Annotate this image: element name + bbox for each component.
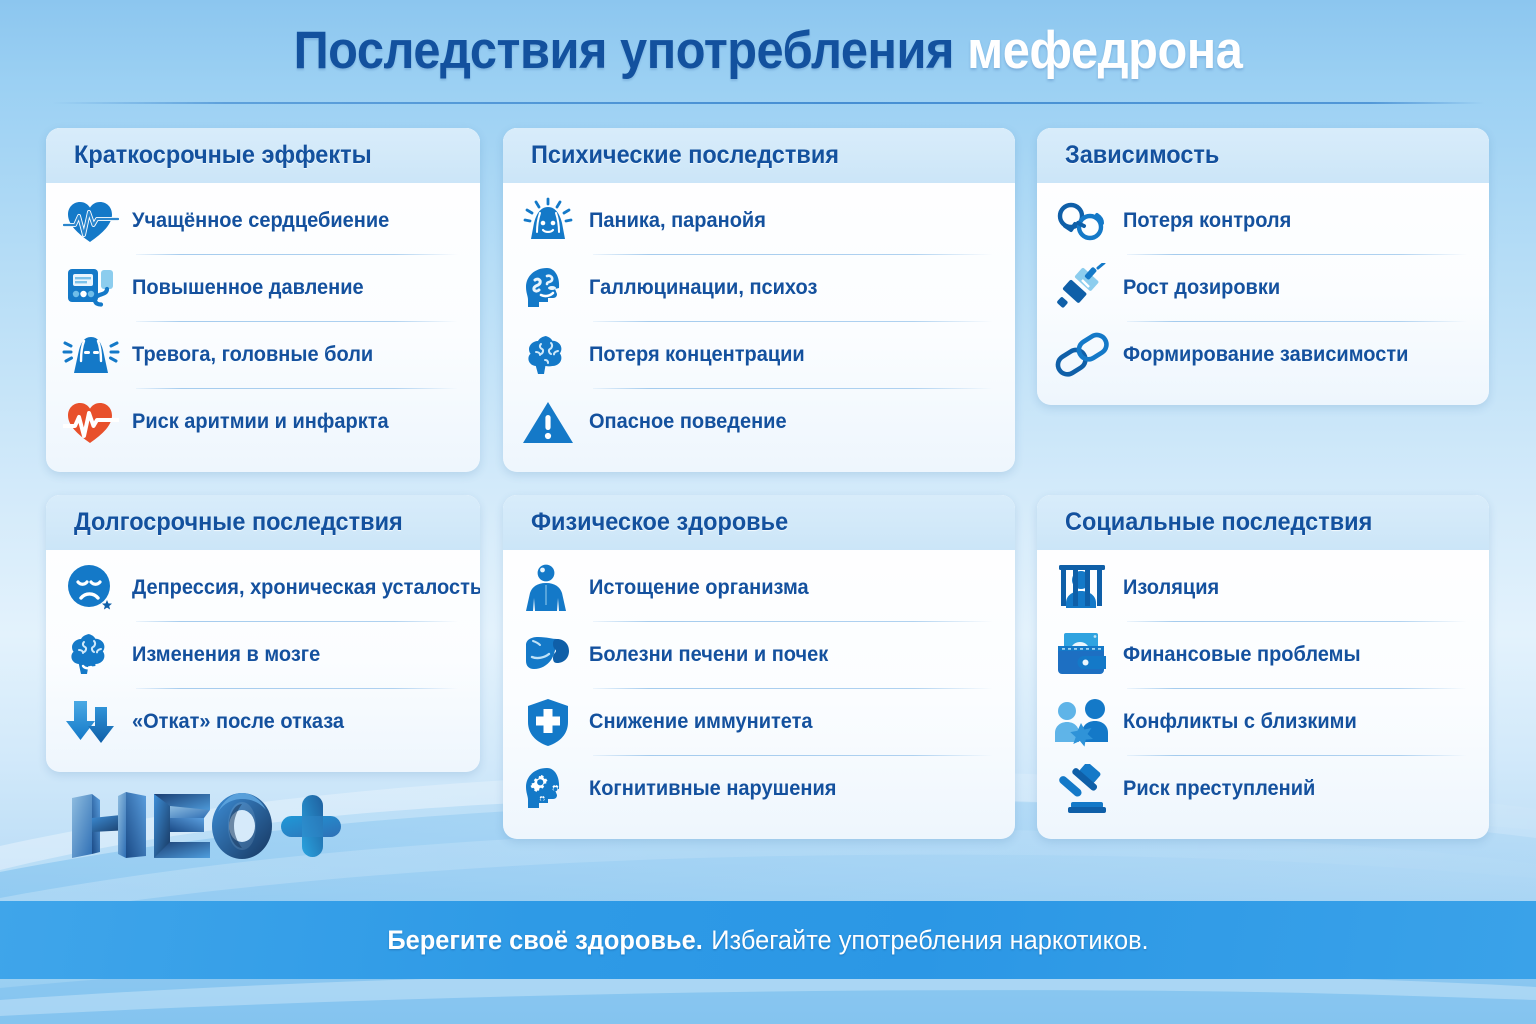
- list-item-label: Депрессия, хроническая усталость: [132, 576, 480, 600]
- conflict-people-icon: [1051, 694, 1113, 750]
- card-header: Краткосрочные эффекты: [46, 128, 480, 183]
- card-title: Долгосрочные последствия: [74, 508, 403, 537]
- wallet-icon: [1051, 627, 1113, 683]
- headache-person-icon: [60, 327, 122, 383]
- footer-regular-text: Избегайте употребления наркотиков.: [711, 925, 1148, 956]
- list-item-label: Риск аритмии и инфаркта: [132, 410, 389, 434]
- list-item[interactable]: Риск преступлений: [1051, 755, 1473, 822]
- list-item-label: Повышенное давление: [132, 276, 364, 300]
- hallucination-head-icon: [517, 260, 579, 316]
- list-item-label: Учащённое сердцебиение: [132, 209, 389, 233]
- brain-change-icon: [60, 627, 122, 683]
- list-item-label: Снижение иммунитета: [589, 710, 813, 734]
- card-title: Психические последствия: [531, 141, 839, 170]
- footer-message: Берегите своё здоровье. Избегайте употре…: [46, 901, 1490, 979]
- gavel-icon: [1051, 761, 1113, 817]
- handcuffs-icon: [1051, 193, 1113, 249]
- down-arrows-icon: [60, 694, 122, 750]
- card-title: Зависимость: [1065, 141, 1219, 170]
- card-body: Паника, паранойя Галлюцинации, психоз: [503, 183, 1015, 465]
- list-item-label: Галлюцинации, психоз: [589, 276, 817, 300]
- list-item[interactable]: Формирование зависимости: [1051, 321, 1473, 388]
- brain-icon: [517, 327, 579, 383]
- list-item[interactable]: Учащённое сердцебиение: [60, 187, 464, 254]
- list-item-label: Конфликты с близкими: [1123, 710, 1357, 734]
- card-header: Зависимость: [1037, 128, 1489, 183]
- list-item[interactable]: Галлюцинации, психоз: [517, 254, 999, 321]
- list-item-label: Потеря концентрации: [589, 343, 805, 367]
- card-social-consequences: Социальные последствия: [1037, 495, 1489, 839]
- card-header: Психические последствия: [503, 128, 1015, 183]
- list-item-label: Опасное поведение: [589, 410, 787, 434]
- list-item[interactable]: Тревога, головные боли: [60, 321, 464, 388]
- exhausted-person-icon: [517, 560, 579, 616]
- list-item-label: Тревога, головные боли: [132, 343, 373, 367]
- card-mental-consequences: Психические последствия Паника, паранойя: [503, 128, 1015, 472]
- list-item[interactable]: Финансовые проблемы: [1051, 621, 1473, 688]
- card-body: Потеря контроля Рост дозировки: [1037, 183, 1489, 398]
- panic-ghost-icon: [517, 193, 579, 249]
- list-item[interactable]: Паника, паранойя: [517, 187, 999, 254]
- card-header: Физическое здоровье: [503, 495, 1015, 550]
- card-title: Социальные последствия: [1065, 508, 1372, 537]
- card-physical-health: Физическое здоровье Истощение организма: [503, 495, 1015, 839]
- heart-arrhythmia-red-icon: [60, 394, 122, 450]
- liver-kidney-icon: [517, 627, 579, 683]
- chain-link-icon: [1051, 327, 1113, 383]
- card-short-term-effects: Краткосрочные эффекты Учащённое сердцеби…: [46, 128, 480, 472]
- cards-grid: Краткосрочные эффекты Учащённое сердцеби…: [0, 0, 1536, 1024]
- list-item-label: Формирование зависимости: [1123, 343, 1408, 367]
- warning-triangle-icon: [517, 394, 579, 450]
- list-item[interactable]: Повышенное давление: [60, 254, 464, 321]
- card-header: Долгосрочные последствия: [46, 495, 480, 550]
- list-item-label: Когнитивные нарушения: [589, 777, 836, 801]
- footer-bold-text: Берегите своё здоровье.: [387, 925, 702, 956]
- list-item-label: «Откат» после отказа: [132, 710, 344, 734]
- card-long-term-consequences: Долгосрочные последствия Депрессия, хрон…: [46, 495, 480, 772]
- sad-face-icon: [60, 560, 122, 616]
- list-item[interactable]: «Откат» после отказа: [60, 688, 464, 755]
- list-item[interactable]: Истощение организма: [517, 554, 999, 621]
- list-item-label: Изменения в мозге: [132, 643, 320, 667]
- card-body: Истощение организма Болезни печени и поч…: [503, 550, 1015, 832]
- prison-bars-person-icon: [1051, 560, 1113, 616]
- card-header: Социальные последствия: [1037, 495, 1489, 550]
- list-item[interactable]: Изменения в мозге: [60, 621, 464, 688]
- list-item[interactable]: Рост дозировки: [1051, 254, 1473, 321]
- list-item[interactable]: Потеря концентрации: [517, 321, 999, 388]
- syringe-icon: [1051, 260, 1113, 316]
- logo-neo-plus: [66, 790, 346, 862]
- head-gears-icon: [517, 761, 579, 817]
- list-item[interactable]: Депрессия, хроническая усталость: [60, 554, 464, 621]
- list-item-label: Болезни печени и почек: [589, 643, 828, 667]
- blood-pressure-monitor-icon: [60, 260, 122, 316]
- list-item-label: Потеря контроля: [1123, 209, 1291, 233]
- list-item[interactable]: Конфликты с близкими: [1051, 688, 1473, 755]
- card-body: Изоляция: [1037, 550, 1489, 832]
- list-item-label: Изоляция: [1123, 576, 1219, 600]
- list-item[interactable]: Потеря контроля: [1051, 187, 1473, 254]
- heart-pulse-icon: [60, 193, 122, 249]
- card-body: Учащённое сердцебиение: [46, 183, 480, 465]
- list-item[interactable]: Изоляция: [1051, 554, 1473, 621]
- list-item[interactable]: Опасное поведение: [517, 388, 999, 455]
- card-title: Краткосрочные эффекты: [74, 141, 372, 170]
- list-item[interactable]: Болезни печени и почек: [517, 621, 999, 688]
- list-item-label: Паника, паранойя: [589, 209, 766, 233]
- list-item[interactable]: Снижение иммунитета: [517, 688, 999, 755]
- card-body: Депрессия, хроническая усталость Изменен…: [46, 550, 480, 765]
- list-item-label: Истощение организма: [589, 576, 809, 600]
- list-item[interactable]: Когнитивные нарушения: [517, 755, 999, 822]
- list-item[interactable]: Риск аритмии и инфаркта: [60, 388, 464, 455]
- card-dependence: Зависимость Потеря контроля: [1037, 128, 1489, 405]
- list-item-label: Финансовые проблемы: [1123, 643, 1361, 667]
- card-title: Физическое здоровье: [531, 508, 788, 537]
- shield-cross-icon: [517, 694, 579, 750]
- list-item-label: Риск преступлений: [1123, 777, 1315, 801]
- list-item-label: Рост дозировки: [1123, 276, 1280, 300]
